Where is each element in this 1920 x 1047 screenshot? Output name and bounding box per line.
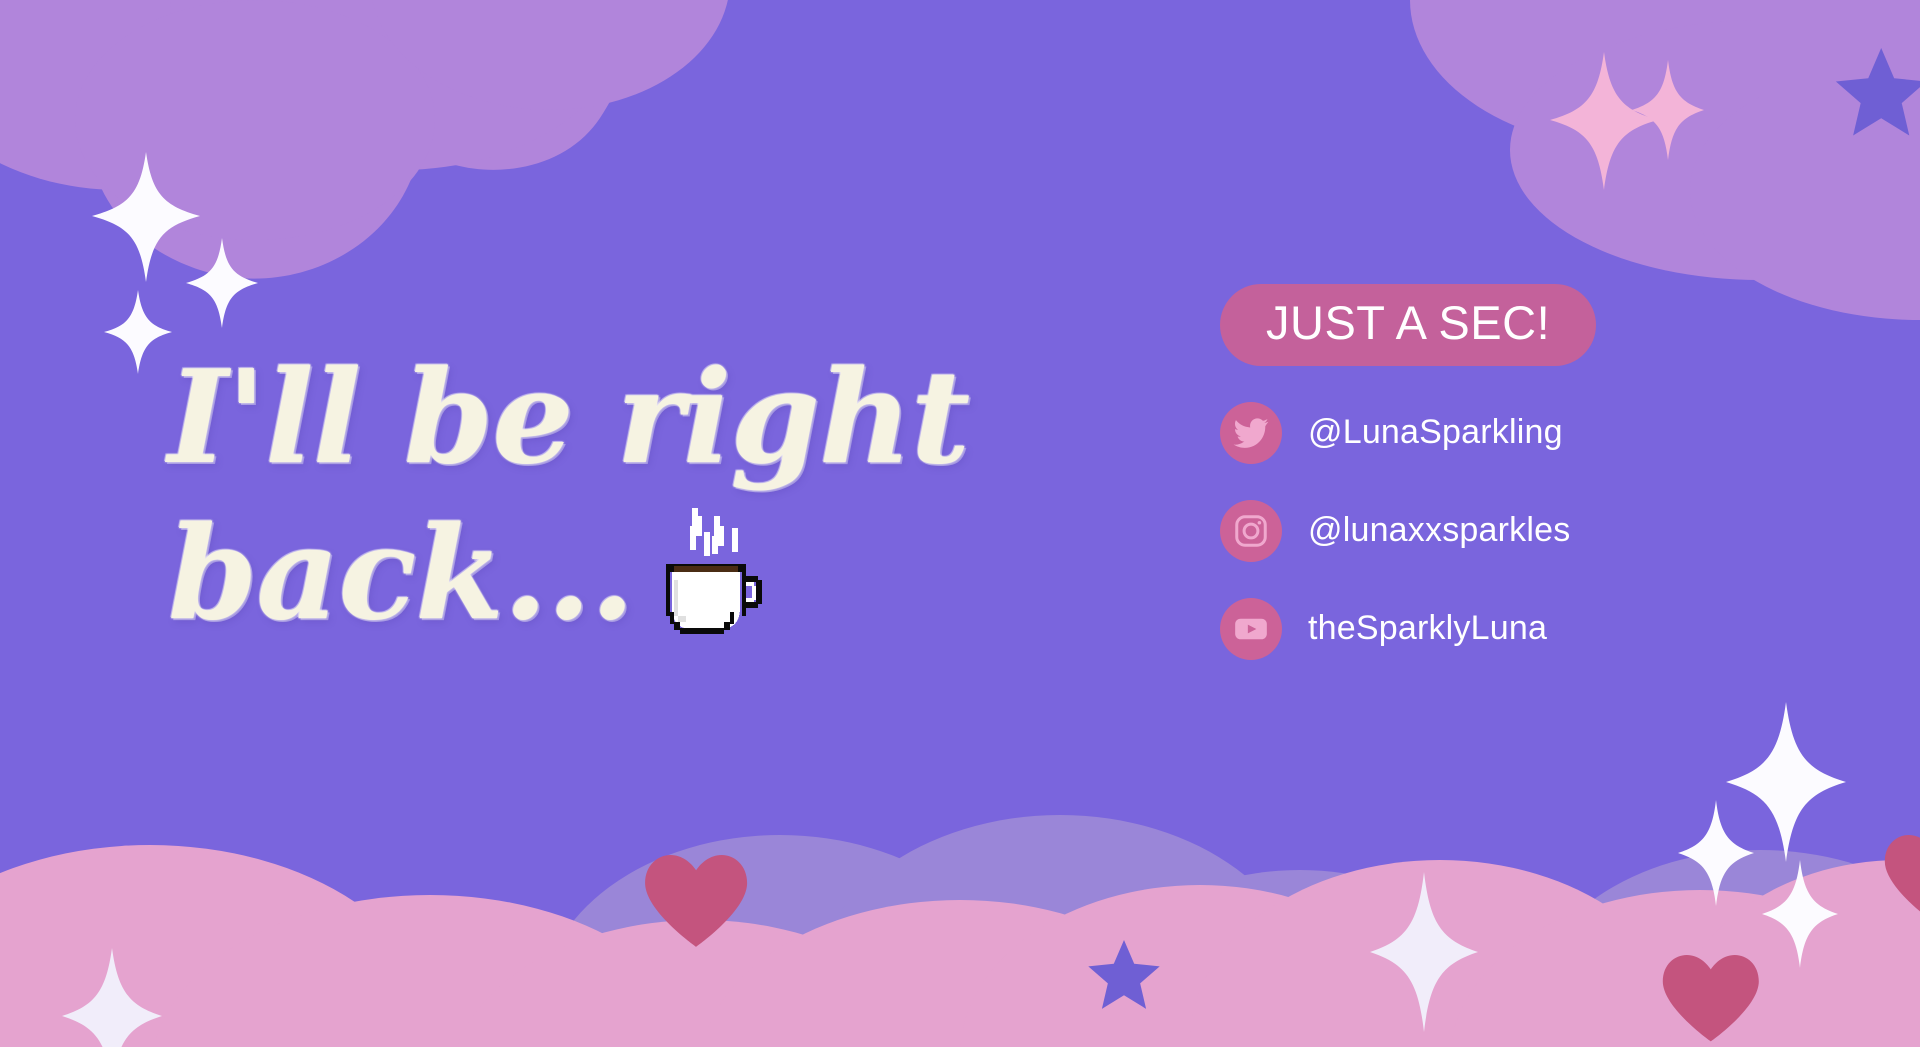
social-row-youtube[interactable]: theSparklyLuna xyxy=(1220,598,1596,660)
sparkle-bottom-right-large xyxy=(1726,702,1846,862)
social-handle-youtube[interactable]: theSparklyLuna xyxy=(1308,609,1547,648)
info-panel: JUST A SEC! @LunaSparkling @lunaxxsparkl… xyxy=(1220,284,1596,660)
sparkle-top-left-small xyxy=(104,290,172,374)
background-art xyxy=(0,0,1920,1047)
youtube-icon[interactable] xyxy=(1220,598,1282,660)
status-badge: JUST A SEC! xyxy=(1220,284,1596,366)
social-handle-instagram[interactable]: @lunaxxsparkles xyxy=(1308,511,1570,550)
twitter-icon[interactable] xyxy=(1220,402,1282,464)
social-row-twitter[interactable]: @LunaSparkling xyxy=(1220,402,1596,464)
cloud-top-left xyxy=(0,0,730,279)
social-handle-twitter[interactable]: @LunaSparkling xyxy=(1308,413,1563,452)
social-row-instagram[interactable]: @lunaxxsparkles xyxy=(1220,500,1596,562)
instagram-icon[interactable] xyxy=(1220,500,1282,562)
cloud-top-right xyxy=(1410,0,1920,320)
stream-brb-overlay: I'll be right back... xyxy=(0,0,1920,1047)
